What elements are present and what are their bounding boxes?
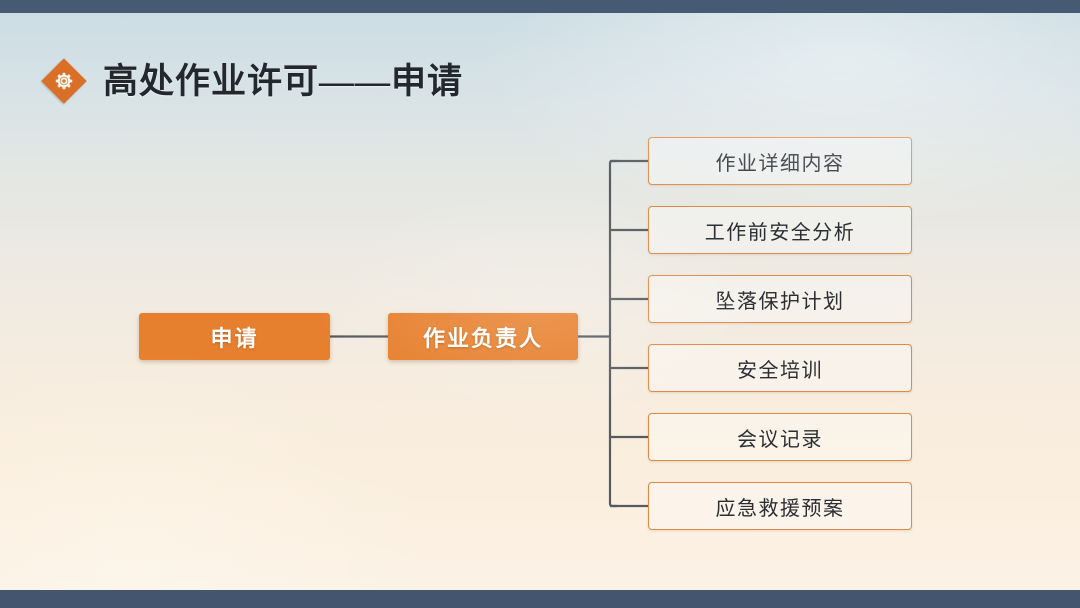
connector-trunk — [610, 161, 617, 506]
node-leaf-label: 会议记录 — [737, 423, 823, 452]
node-apply-label: 申请 — [210, 321, 258, 353]
node-leaf-safety-training[interactable]: 安全培训 — [648, 344, 912, 392]
org-tree-diagram: 申请 作业负责人 作业详细内容 工作前安全分析 坠落保护计划 安全培训 — [0, 13, 1080, 590]
top-letterbox-bar — [0, 0, 1080, 13]
bottom-letterbox-bar — [0, 590, 1080, 608]
node-leaf-fall-protection-plan[interactable]: 坠落保护计划 — [648, 275, 912, 323]
node-leaf-label: 作业详细内容 — [716, 147, 845, 176]
node-apply[interactable]: 申请 — [139, 313, 330, 360]
node-leaf-job-details[interactable]: 作业详细内容 — [648, 137, 912, 185]
slide-root: 高处作业许可——申请 — [0, 0, 1080, 608]
slide-canvas: 高处作业许可——申请 — [0, 13, 1080, 590]
tree-connectors — [0, 13, 1080, 590]
node-leaf-label: 安全培训 — [737, 354, 823, 383]
node-leaf-emergency-rescue-plan[interactable]: 应急救援预案 — [648, 482, 912, 530]
node-work-owner[interactable]: 作业负责人 — [388, 313, 578, 360]
node-work-owner-label: 作业负责人 — [423, 321, 543, 353]
node-leaf-label: 工作前安全分析 — [705, 216, 856, 245]
node-leaf-meeting-record[interactable]: 会议记录 — [648, 413, 912, 461]
node-leaf-label: 应急救援预案 — [716, 492, 845, 521]
node-leaf-pre-job-safety-analysis[interactable]: 工作前安全分析 — [648, 206, 912, 254]
node-leaf-label: 坠落保护计划 — [716, 285, 845, 314]
